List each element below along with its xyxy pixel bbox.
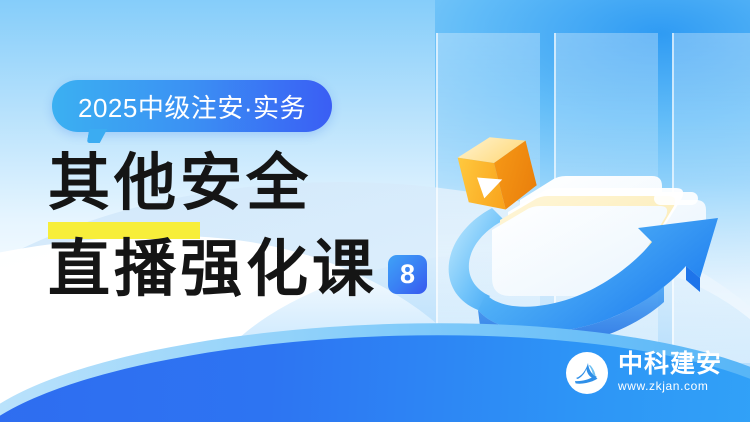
brand-url: www.zkjan.com bbox=[618, 378, 709, 394]
main-illustration bbox=[400, 96, 750, 356]
course-banner: 2025中级注安·实务 其他安全 直播强化课 8 中科建安 www.zkjan.… bbox=[0, 0, 750, 422]
headline-line-2: 直播强化课 bbox=[48, 236, 378, 302]
course-category-label: 2025中级注安·实务 bbox=[78, 88, 306, 125]
zkjan-circle-logo-icon bbox=[566, 352, 608, 394]
course-category-tag: 2025中级注安·实务 bbox=[52, 80, 332, 132]
headline-row-1: 其他安全 bbox=[48, 150, 427, 216]
illustration-svg bbox=[400, 96, 750, 356]
brand-logo: 中科建安 www.zkjan.com bbox=[566, 351, 722, 394]
headline-row-2: 直播强化课 8 bbox=[48, 236, 427, 302]
headline-block: 其他安全 直播强化课 8 bbox=[48, 150, 427, 302]
headline-line-1: 其他安全 bbox=[48, 150, 312, 216]
tag-tail bbox=[87, 129, 107, 143]
brand-name: 中科建安 bbox=[618, 351, 722, 378]
episode-number-badge: 8 bbox=[388, 255, 427, 294]
brand-logo-text: 中科建安 www.zkjan.com bbox=[618, 351, 722, 394]
